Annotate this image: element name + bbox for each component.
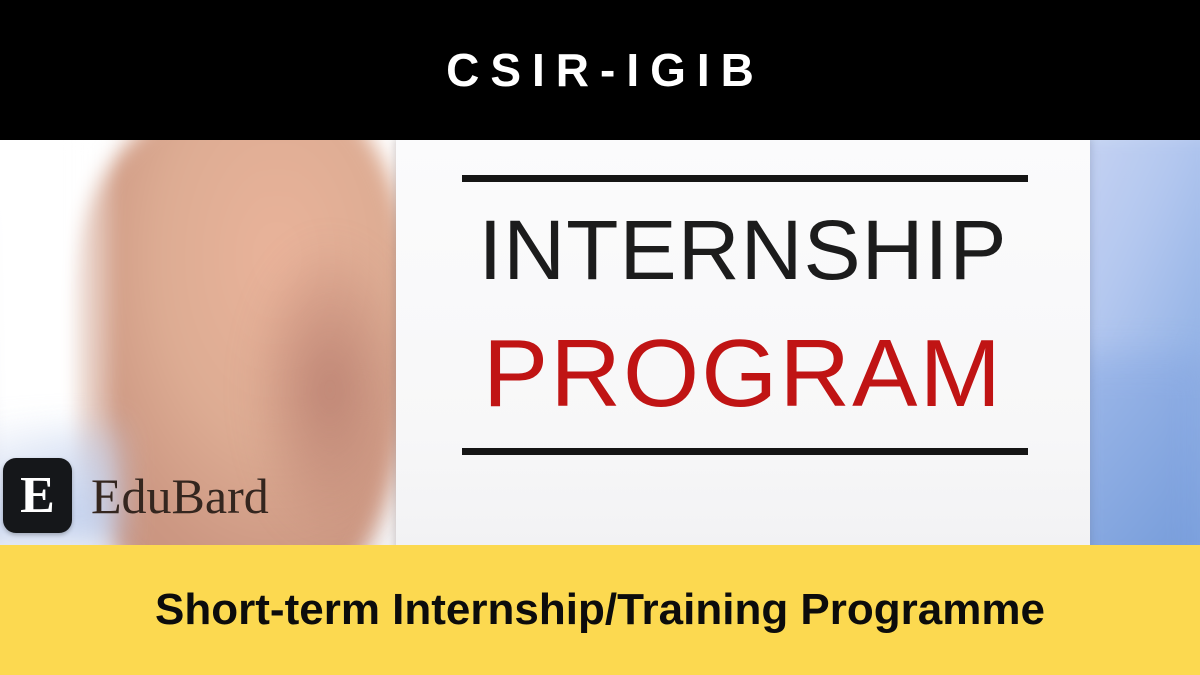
bottom-yellow-banner: Short-term Internship/Training Programme bbox=[0, 545, 1200, 675]
photo-area: INTERNSHIP PROGRAM E EduBard bbox=[0, 140, 1200, 545]
poster-heading-internship: INTERNSHIP bbox=[389, 208, 1097, 292]
organisation-title: CSIR-IGIB bbox=[435, 47, 765, 93]
programme-title: Short-term Internship/Training Programme bbox=[155, 588, 1045, 632]
edubard-logo-icon: E bbox=[3, 458, 72, 533]
blurred-arm-shading bbox=[250, 240, 410, 540]
poster-card: INTERNSHIP PROGRAM bbox=[396, 140, 1090, 545]
edubard-brand-name: EduBard bbox=[91, 471, 269, 521]
edubard-logo-letter: E bbox=[20, 470, 55, 522]
poster-rule-bottom bbox=[462, 448, 1028, 455]
edubard-watermark: E EduBard bbox=[3, 458, 269, 533]
promo-banner-image: CSIR-IGIB INTERNSHIP PROGRAM E EduBard bbox=[0, 0, 1200, 675]
top-black-banner: CSIR-IGIB bbox=[0, 0, 1200, 140]
poster-card-content: INTERNSHIP PROGRAM bbox=[396, 140, 1090, 545]
poster-heading-program: PROGRAM bbox=[389, 326, 1097, 422]
poster-rule-top bbox=[462, 175, 1028, 182]
